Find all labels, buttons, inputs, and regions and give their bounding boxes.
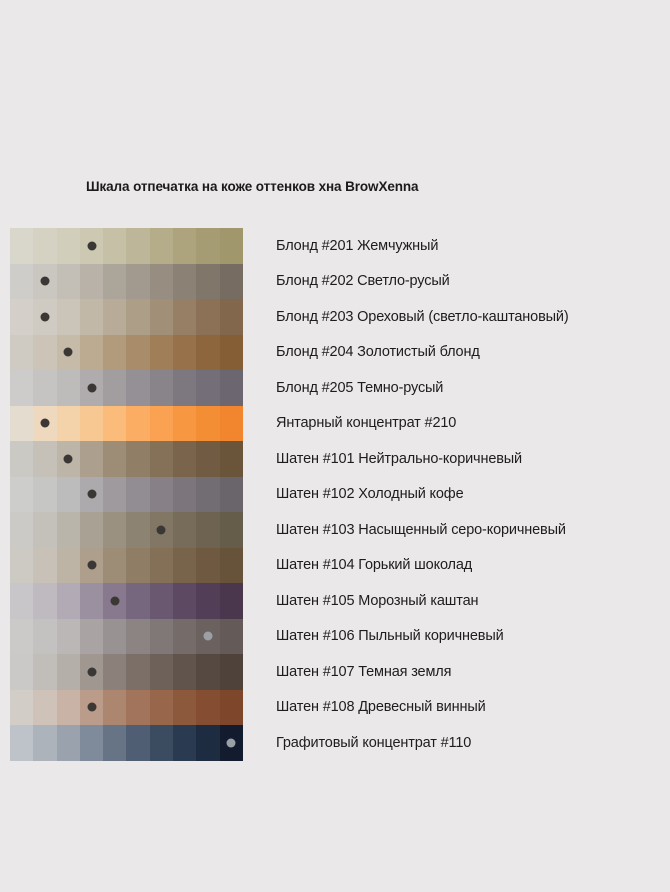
shade-label: Шатен #107 Темная земля xyxy=(276,654,670,690)
color-swatch xyxy=(173,299,196,335)
shade-label: Графитовый концентрат #110 xyxy=(276,725,670,761)
color-swatch xyxy=(150,264,173,300)
color-swatch xyxy=(103,725,126,761)
color-swatch xyxy=(150,654,173,690)
color-swatch xyxy=(150,583,173,619)
color-swatch xyxy=(150,619,173,655)
color-swatch xyxy=(220,619,243,655)
shade-marker-dot xyxy=(40,312,49,321)
shade-label: Шатен #106 Пыльный коричневый xyxy=(276,619,670,655)
shade-marker-dot xyxy=(40,277,49,286)
swatch-row xyxy=(10,335,243,371)
color-swatch xyxy=(150,335,173,371)
color-swatch xyxy=(220,654,243,690)
color-swatch xyxy=(80,512,103,548)
color-swatch xyxy=(103,370,126,406)
color-swatch xyxy=(196,370,219,406)
color-swatch xyxy=(220,264,243,300)
color-swatch xyxy=(220,512,243,548)
color-swatch xyxy=(173,654,196,690)
color-swatch xyxy=(80,335,103,371)
color-swatch xyxy=(196,477,219,513)
color-swatch xyxy=(196,264,219,300)
color-swatch xyxy=(57,690,80,726)
color-swatch xyxy=(173,619,196,655)
color-swatch xyxy=(196,441,219,477)
color-swatch xyxy=(126,512,149,548)
color-swatch xyxy=(220,583,243,619)
color-swatch xyxy=(150,406,173,442)
color-swatch xyxy=(126,264,149,300)
color-swatch-grid xyxy=(10,228,243,725)
color-swatch xyxy=(33,619,56,655)
color-swatch xyxy=(103,548,126,584)
color-swatch xyxy=(126,583,149,619)
swatch-row xyxy=(10,406,243,442)
color-swatch xyxy=(220,690,243,726)
color-swatch xyxy=(33,228,56,264)
shade-marker-dot xyxy=(110,596,119,605)
shade-marker-dot xyxy=(64,348,73,357)
color-swatch xyxy=(57,406,80,442)
color-swatch xyxy=(80,264,103,300)
swatch-row xyxy=(10,299,243,335)
color-swatch xyxy=(57,299,80,335)
color-swatch xyxy=(33,477,56,513)
color-swatch xyxy=(126,548,149,584)
swatch-row xyxy=(10,583,243,619)
shade-marker-dot xyxy=(227,738,236,747)
color-swatch xyxy=(57,725,80,761)
shade-label: Шатен #108 Древесный винный xyxy=(276,690,670,726)
shade-label: Шатен #104 Горький шоколад xyxy=(276,548,670,584)
color-swatch xyxy=(126,619,149,655)
shade-label: Шатен #103 Насыщенный серо-коричневый xyxy=(276,512,670,548)
color-swatch xyxy=(196,690,219,726)
color-swatch xyxy=(33,335,56,371)
color-swatch xyxy=(80,441,103,477)
color-swatch xyxy=(57,512,80,548)
color-swatch xyxy=(196,299,219,335)
shade-label: Шатен #102 Холодный кофе xyxy=(276,477,670,513)
swatch-row xyxy=(10,477,243,513)
color-swatch xyxy=(103,335,126,371)
color-swatch xyxy=(173,512,196,548)
color-swatch xyxy=(80,299,103,335)
color-swatch xyxy=(80,583,103,619)
shade-scale-page: Шкала отпечатка на коже оттенков хна Bro… xyxy=(0,0,670,892)
color-swatch xyxy=(196,725,219,761)
color-swatch xyxy=(173,725,196,761)
color-swatch xyxy=(126,370,149,406)
shade-marker-dot xyxy=(87,667,96,676)
swatch-row xyxy=(10,619,243,655)
color-swatch xyxy=(103,406,126,442)
color-swatch xyxy=(220,548,243,584)
color-swatch xyxy=(126,725,149,761)
color-swatch xyxy=(220,370,243,406)
shade-label: Шатен #105 Морозный каштан xyxy=(276,583,670,619)
color-swatch xyxy=(103,441,126,477)
shade-label: Блонд #205 Темно-русый xyxy=(276,370,670,406)
color-swatch xyxy=(10,406,33,442)
shade-label: Шатен #101 Нейтрально-коричневый xyxy=(276,441,670,477)
color-swatch xyxy=(10,228,33,264)
swatch-row xyxy=(10,725,243,761)
color-swatch xyxy=(103,654,126,690)
color-swatch xyxy=(173,406,196,442)
color-swatch xyxy=(10,264,33,300)
color-swatch xyxy=(126,228,149,264)
color-swatch xyxy=(103,512,126,548)
color-swatch xyxy=(10,690,33,726)
color-swatch xyxy=(10,583,33,619)
color-swatch xyxy=(103,264,126,300)
color-swatch xyxy=(220,335,243,371)
color-swatch xyxy=(57,548,80,584)
color-swatch xyxy=(150,370,173,406)
color-swatch xyxy=(80,725,103,761)
color-swatch xyxy=(103,690,126,726)
swatch-row xyxy=(10,654,243,690)
color-swatch xyxy=(196,335,219,371)
color-swatch xyxy=(103,299,126,335)
color-swatch xyxy=(150,441,173,477)
swatch-row xyxy=(10,228,243,264)
color-swatch xyxy=(33,654,56,690)
color-swatch xyxy=(10,512,33,548)
color-swatch xyxy=(220,441,243,477)
shade-label: Блонд #202 Светло-русый xyxy=(276,264,670,300)
color-swatch xyxy=(173,690,196,726)
color-swatch xyxy=(126,477,149,513)
color-swatch xyxy=(220,406,243,442)
color-swatch xyxy=(10,548,33,584)
color-swatch xyxy=(10,370,33,406)
color-swatch xyxy=(126,690,149,726)
color-swatch xyxy=(33,548,56,584)
color-swatch xyxy=(33,370,56,406)
color-swatch xyxy=(220,299,243,335)
shade-label: Блонд #201 Жемчужный xyxy=(276,228,670,264)
swatch-row xyxy=(10,548,243,584)
shade-label: Блонд #203 Ореховый (светло-каштановый) xyxy=(276,299,670,335)
page-title: Шкала отпечатка на коже оттенков хна Bro… xyxy=(86,179,418,194)
color-swatch xyxy=(10,477,33,513)
color-swatch xyxy=(80,406,103,442)
shade-marker-dot xyxy=(87,383,96,392)
shade-marker-dot xyxy=(87,703,96,712)
color-swatch xyxy=(196,406,219,442)
shade-marker-dot xyxy=(87,241,96,250)
color-swatch xyxy=(173,583,196,619)
color-swatch xyxy=(196,512,219,548)
color-swatch xyxy=(150,690,173,726)
color-swatch xyxy=(173,335,196,371)
color-swatch xyxy=(57,619,80,655)
color-swatch xyxy=(80,619,103,655)
color-swatch xyxy=(103,477,126,513)
color-swatch xyxy=(150,299,173,335)
swatch-row xyxy=(10,264,243,300)
color-swatch xyxy=(103,228,126,264)
shade-label-list: Блонд #201 ЖемчужныйБлонд #202 Светло-ру… xyxy=(276,228,670,725)
color-swatch xyxy=(196,583,219,619)
shade-marker-dot xyxy=(64,454,73,463)
color-swatch xyxy=(150,477,173,513)
color-swatch xyxy=(10,441,33,477)
color-swatch xyxy=(10,619,33,655)
color-swatch xyxy=(173,548,196,584)
color-swatch xyxy=(150,725,173,761)
swatch-row xyxy=(10,512,243,548)
shade-marker-dot xyxy=(87,490,96,499)
color-swatch xyxy=(33,512,56,548)
swatch-row xyxy=(10,690,243,726)
swatch-row xyxy=(10,370,243,406)
color-swatch xyxy=(33,690,56,726)
shade-marker-dot xyxy=(204,632,213,641)
color-swatch xyxy=(10,725,33,761)
color-swatch xyxy=(196,228,219,264)
color-swatch xyxy=(126,299,149,335)
color-swatch xyxy=(33,441,56,477)
color-swatch xyxy=(173,477,196,513)
color-swatch xyxy=(173,228,196,264)
shade-marker-dot xyxy=(40,419,49,428)
color-swatch xyxy=(10,654,33,690)
color-swatch xyxy=(173,264,196,300)
color-swatch xyxy=(150,548,173,584)
shade-marker-dot xyxy=(87,561,96,570)
shade-label: Янтарный концентрат #210 xyxy=(276,406,670,442)
color-swatch xyxy=(126,335,149,371)
color-swatch xyxy=(220,228,243,264)
color-swatch xyxy=(173,441,196,477)
color-swatch xyxy=(173,370,196,406)
color-swatch xyxy=(57,477,80,513)
color-swatch xyxy=(150,228,173,264)
shade-marker-dot xyxy=(157,525,166,534)
color-swatch xyxy=(57,228,80,264)
color-swatch xyxy=(57,370,80,406)
color-swatch xyxy=(57,654,80,690)
color-swatch xyxy=(10,335,33,371)
color-swatch xyxy=(33,725,56,761)
color-swatch xyxy=(196,654,219,690)
color-swatch xyxy=(57,583,80,619)
swatch-row xyxy=(10,441,243,477)
color-swatch xyxy=(126,406,149,442)
shade-label: Блонд #204 Золотистый блонд xyxy=(276,335,670,371)
color-swatch xyxy=(220,477,243,513)
color-swatch xyxy=(33,583,56,619)
color-swatch xyxy=(103,619,126,655)
color-swatch xyxy=(126,654,149,690)
color-swatch xyxy=(57,264,80,300)
color-swatch xyxy=(10,299,33,335)
color-swatch xyxy=(196,548,219,584)
color-swatch xyxy=(126,441,149,477)
